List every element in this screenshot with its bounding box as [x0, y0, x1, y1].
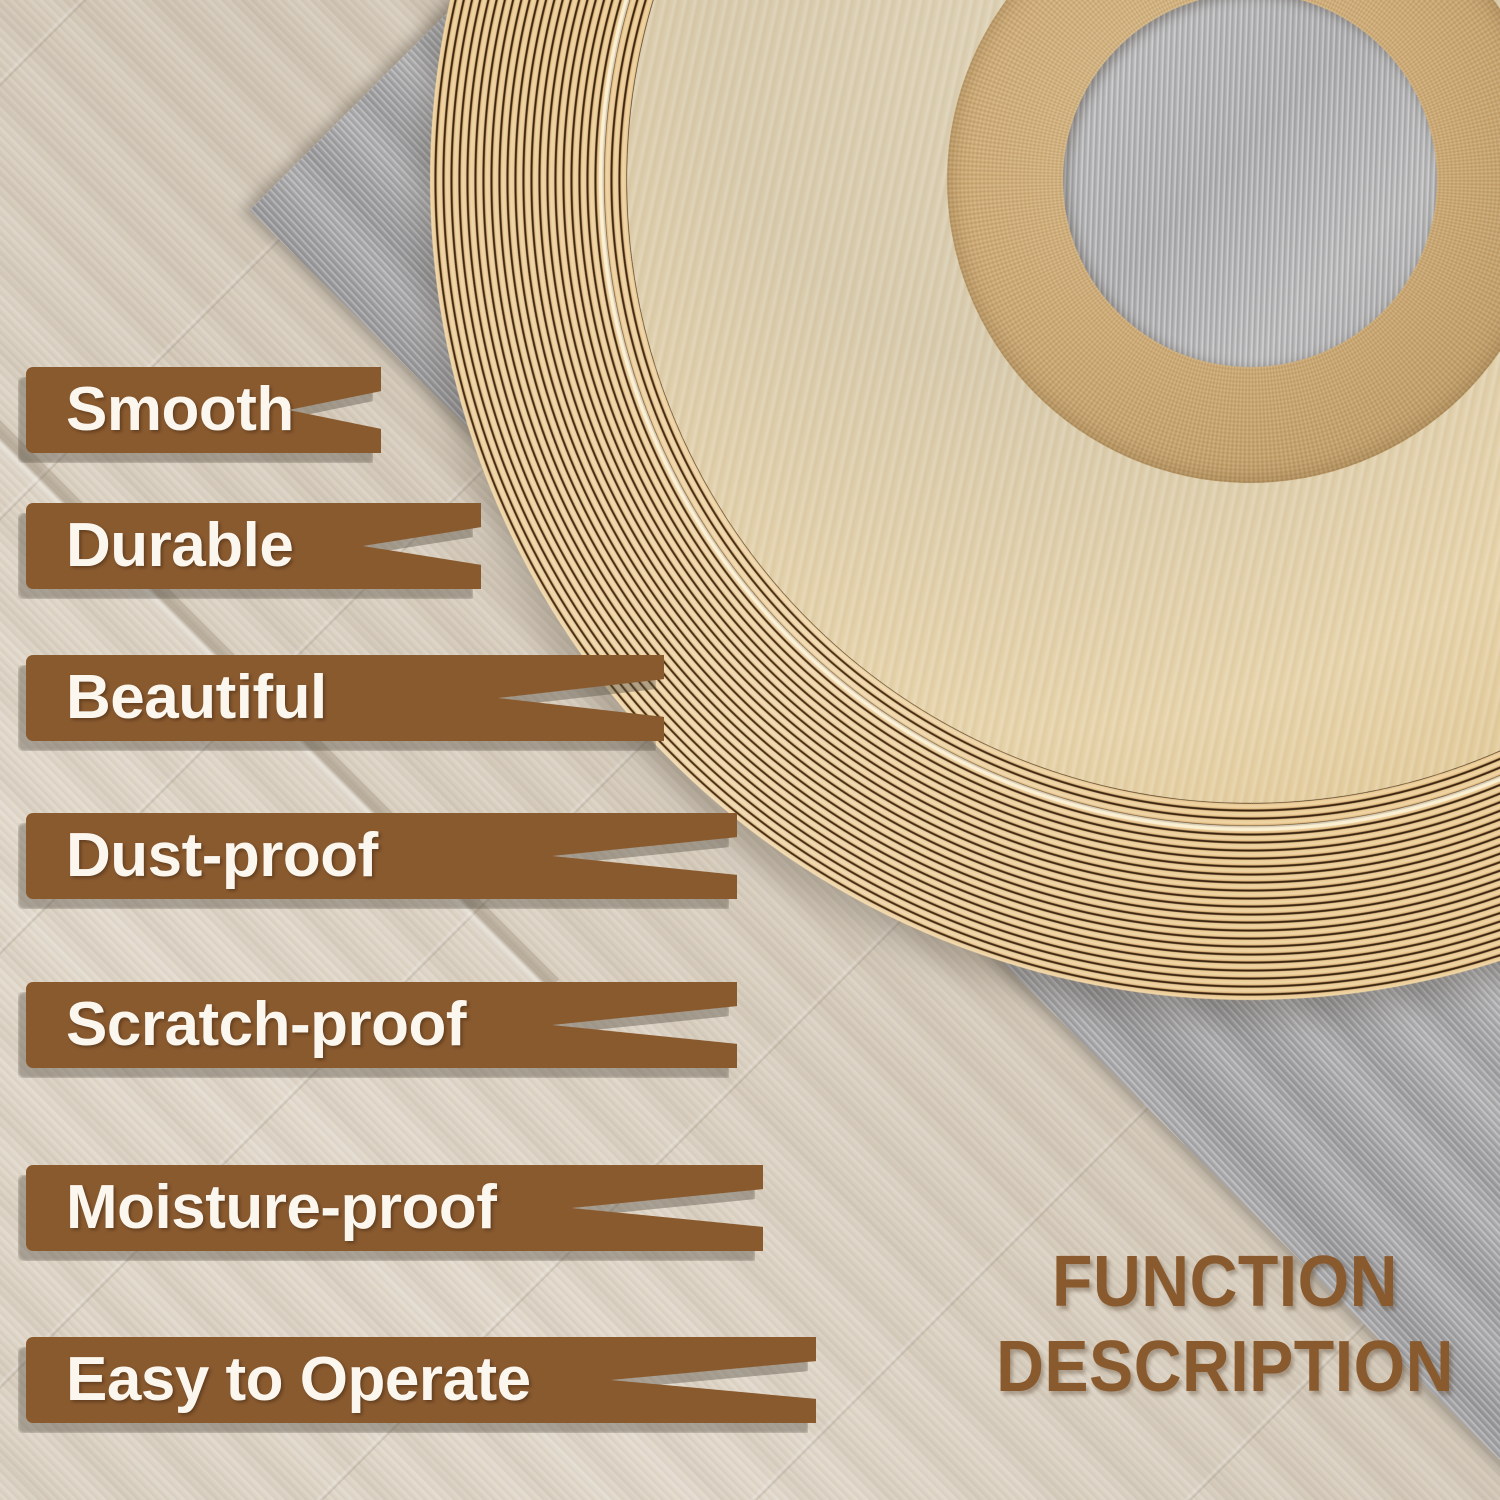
- feature-banner-label: Scratch-proof: [66, 994, 466, 1056]
- feature-banner-label: Easy to Operate: [66, 1349, 531, 1411]
- feature-banner-label: Durable: [66, 515, 293, 577]
- feature-banner-label: Moisture-proof: [66, 1177, 496, 1239]
- heading-line-1: FUNCTION: [995, 1240, 1455, 1325]
- feature-banner-label: Dust-proof: [66, 825, 378, 887]
- feature-banner-label: Smooth: [66, 379, 294, 441]
- feature-banner-label: Beautiful: [66, 667, 327, 729]
- product-image-canvas: SmoothDurableBeautifulDust-proofScratch-…: [0, 0, 1500, 1500]
- heading-line-2: DESCRIPTION: [995, 1325, 1455, 1410]
- function-description-heading: FUNCTION DESCRIPTION: [975, 1240, 1475, 1410]
